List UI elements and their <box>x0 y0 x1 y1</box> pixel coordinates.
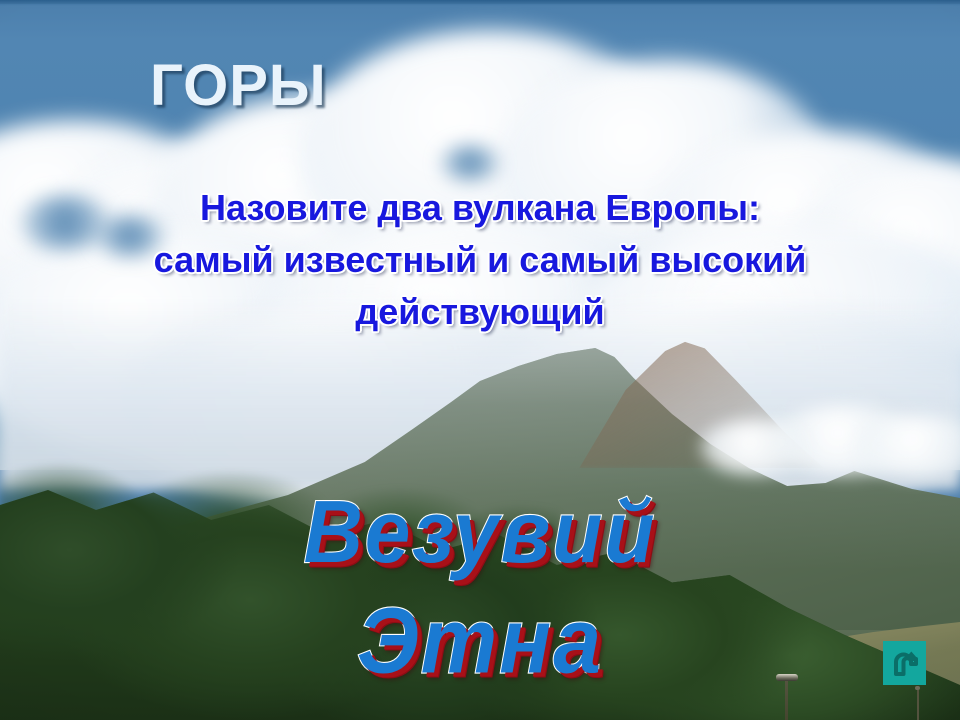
question-text: Назовите два вулкана Европы: самый извес… <box>80 182 880 338</box>
cloud <box>700 420 810 475</box>
u-turn-arrow-icon <box>890 648 920 678</box>
question-line-2: самый известный и самый высокий <box>80 234 880 286</box>
question-line-1: Назовите два вулкана Европы: <box>80 182 880 234</box>
sky-gap <box>440 145 500 181</box>
answer-wordart-vesuvius: Везувий <box>0 482 960 584</box>
return-button[interactable] <box>883 641 926 685</box>
sky-top-edge <box>0 0 960 4</box>
presentation-slide: ГОРЫ Назовите два вулкана Европы: самый … <box>0 0 960 720</box>
slide-title: ГОРЫ <box>150 52 327 119</box>
question-line-3: действующий <box>80 286 880 338</box>
answer-wordart-etna: Этна <box>0 588 960 695</box>
